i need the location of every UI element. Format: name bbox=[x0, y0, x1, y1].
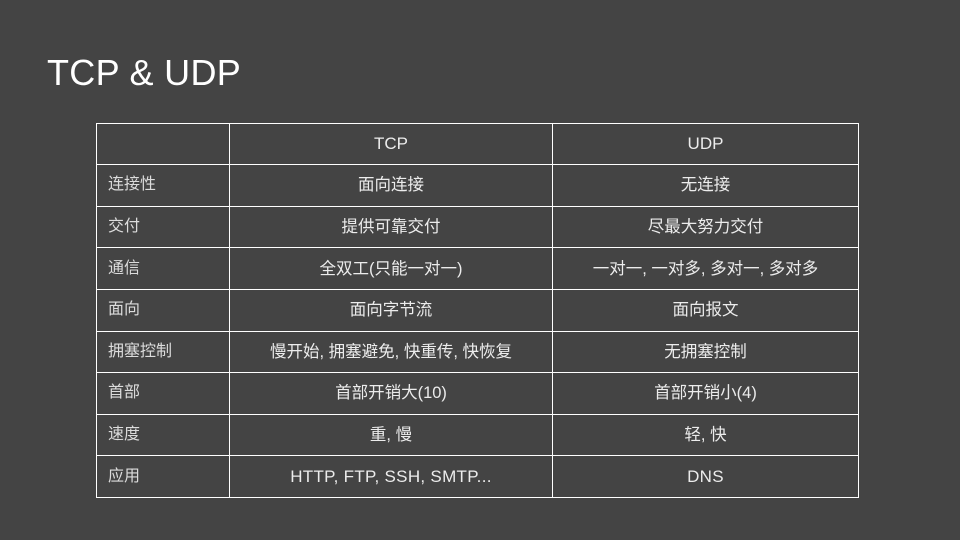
row-label: 交付 bbox=[97, 206, 230, 248]
row-value-tcp: 提供可靠交付 bbox=[230, 206, 553, 248]
table-row: 首部 首部开销大(10) 首部开销小(4) bbox=[97, 373, 859, 415]
table-row: 面向 面向字节流 面向报文 bbox=[97, 289, 859, 331]
row-label: 拥塞控制 bbox=[97, 331, 230, 373]
table-body: 连接性 面向连接 无连接 交付 提供可靠交付 尽最大努力交付 通信 全双工(只能… bbox=[97, 165, 859, 498]
row-value-tcp: 慢开始, 拥塞避免, 快重传, 快恢复 bbox=[230, 331, 553, 373]
header-cell-tcp: TCP bbox=[230, 124, 553, 165]
row-label: 通信 bbox=[97, 248, 230, 290]
table-row: 拥塞控制 慢开始, 拥塞避免, 快重传, 快恢复 无拥塞控制 bbox=[97, 331, 859, 373]
page-title: TCP & UDP bbox=[47, 50, 241, 96]
row-value-udp: 一对一, 一对多, 多对一, 多对多 bbox=[553, 248, 859, 290]
row-value-tcp: 重, 慢 bbox=[230, 414, 553, 456]
row-value-tcp: 面向连接 bbox=[230, 165, 553, 207]
table-row: 连接性 面向连接 无连接 bbox=[97, 165, 859, 207]
row-value-udp: 轻, 快 bbox=[553, 414, 859, 456]
row-value-tcp: 首部开销大(10) bbox=[230, 373, 553, 415]
table-row: 通信 全双工(只能一对一) 一对一, 一对多, 多对一, 多对多 bbox=[97, 248, 859, 290]
row-label: 速度 bbox=[97, 414, 230, 456]
row-value-udp: 无拥塞控制 bbox=[553, 331, 859, 373]
comparison-table-container: TCP UDP 连接性 面向连接 无连接 交付 提供可靠交付 尽最大努力交付 通… bbox=[96, 123, 858, 498]
row-value-udp: 尽最大努力交付 bbox=[553, 206, 859, 248]
table-header-row: TCP UDP bbox=[97, 124, 859, 165]
slide-canvas: TCP & UDP TCP UDP 连接性 面向连接 无连接 bbox=[0, 0, 960, 540]
header-cell-udp: UDP bbox=[553, 124, 859, 165]
row-value-tcp: HTTP, FTP, SSH, SMTP... bbox=[230, 456, 553, 498]
header-cell-blank bbox=[97, 124, 230, 165]
table-row: 应用 HTTP, FTP, SSH, SMTP... DNS bbox=[97, 456, 859, 498]
row-value-udp: 面向报文 bbox=[553, 289, 859, 331]
table-row: 交付 提供可靠交付 尽最大努力交付 bbox=[97, 206, 859, 248]
row-value-udp: 首部开销小(4) bbox=[553, 373, 859, 415]
row-value-tcp: 面向字节流 bbox=[230, 289, 553, 331]
table-header: TCP UDP bbox=[97, 124, 859, 165]
tcp-udp-comparison-table: TCP UDP 连接性 面向连接 无连接 交付 提供可靠交付 尽最大努力交付 通… bbox=[96, 123, 859, 498]
row-value-tcp: 全双工(只能一对一) bbox=[230, 248, 553, 290]
row-label: 应用 bbox=[97, 456, 230, 498]
row-value-udp: 无连接 bbox=[553, 165, 859, 207]
row-label: 面向 bbox=[97, 289, 230, 331]
row-label: 连接性 bbox=[97, 165, 230, 207]
table-row: 速度 重, 慢 轻, 快 bbox=[97, 414, 859, 456]
row-value-udp: DNS bbox=[553, 456, 859, 498]
row-label: 首部 bbox=[97, 373, 230, 415]
